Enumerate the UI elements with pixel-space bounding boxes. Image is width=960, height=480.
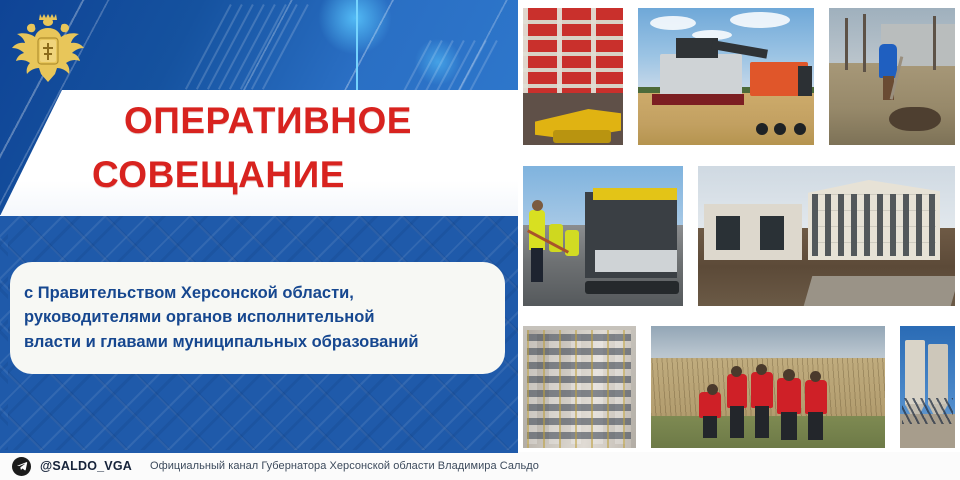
photo-collage bbox=[518, 0, 960, 452]
volunteers-field-cleanup-photo bbox=[651, 326, 885, 448]
subtitle-line-2: руководителями органов исполнительной bbox=[24, 307, 489, 328]
cement-silos-plant-photo bbox=[900, 326, 955, 448]
channel-description: Официальный канал Губернатора Херсонской… bbox=[150, 460, 539, 472]
telegram-icon[interactable] bbox=[12, 457, 31, 476]
subtitle-card: с Правительством Херсонской области, рук… bbox=[10, 262, 505, 374]
apartment-tower-renovation-photo bbox=[523, 326, 636, 448]
page-title-line-2: СОВЕЩАНИЕ bbox=[92, 156, 345, 193]
page-title-line-1: ОПЕРАТИВНОЕ bbox=[124, 102, 412, 139]
footer-divider bbox=[0, 450, 518, 453]
combine-harvester-grain-truck-photo bbox=[638, 8, 814, 145]
tree-planting-worker-photo bbox=[829, 8, 955, 145]
double-headed-eagle-emblem bbox=[9, 8, 87, 96]
footer-bar: @SALDO_VGA Официальный канал Губернатора… bbox=[0, 452, 960, 480]
warehouse-gas-cylinders-photo bbox=[523, 8, 623, 145]
left-info-panel: ОПЕРАТИВНОЕ СОВЕЩАНИЕ с Правительством Х… bbox=[0, 0, 518, 452]
subtitle-line-1: с Правительством Херсонской области, bbox=[24, 283, 489, 304]
new-building-construction-photo bbox=[698, 166, 955, 306]
road-paving-crew-photo bbox=[523, 166, 683, 306]
telegram-handle[interactable]: @SALDO_VGA bbox=[40, 459, 132, 473]
poster-root: ОПЕРАТИВНОЕ СОВЕЩАНИЕ с Правительством Х… bbox=[0, 0, 960, 480]
subtitle-line-3: власти и главами муниципальных образован… bbox=[24, 332, 489, 353]
